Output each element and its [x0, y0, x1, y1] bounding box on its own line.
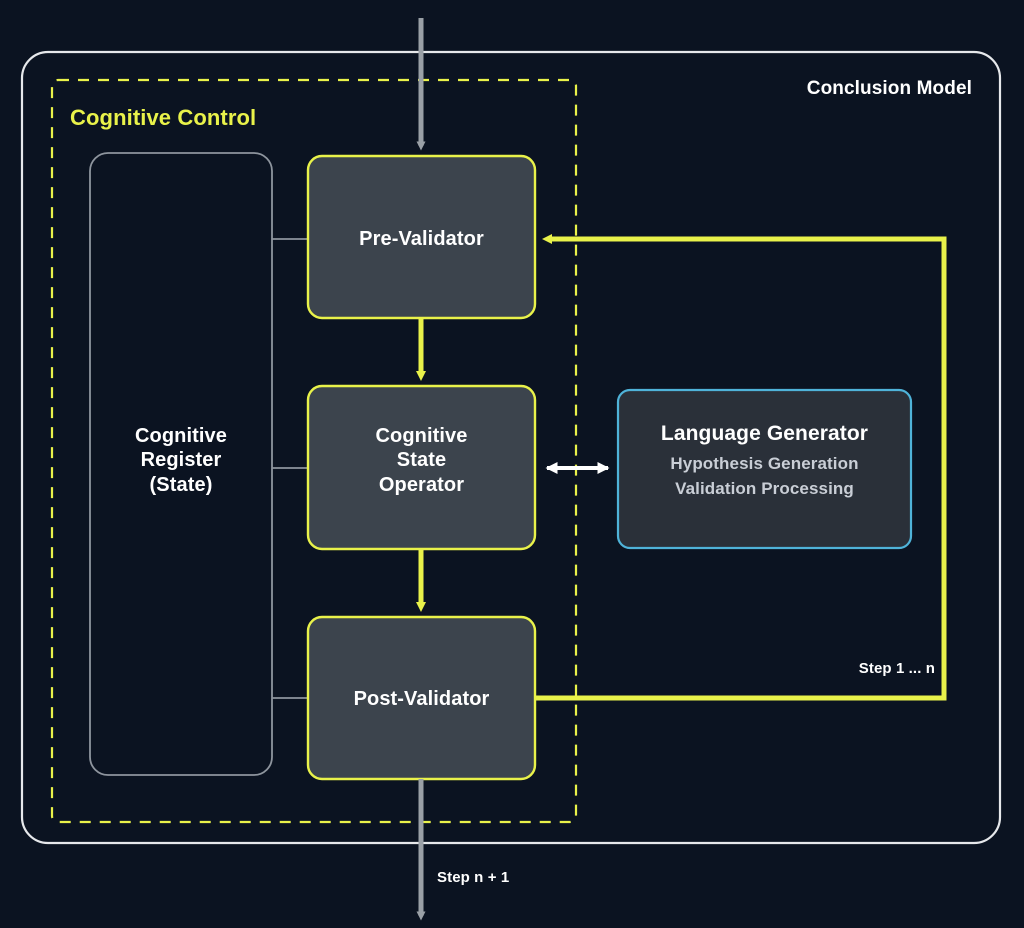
post-validator-label: Post-Validator: [308, 687, 535, 711]
cognitive-register-line-3: (State): [90, 473, 272, 497]
state-operator-line-1: Cognitive: [308, 424, 535, 448]
output-step-label: Step n + 1: [437, 869, 637, 887]
feedback-step-label: Step 1 ... n: [760, 660, 935, 678]
language-generator-sub-2: Validation Processing: [618, 479, 911, 500]
language-generator-sub-1: Hypothesis Generation: [618, 454, 911, 475]
cognitive-register-line-1: Cognitive: [90, 424, 272, 448]
state-operator-line-2: State: [308, 448, 535, 472]
cognitive-control-title: Cognitive Control: [70, 105, 370, 132]
cognitive-state-operator-label: Cognitive State Operator: [308, 424, 535, 497]
conclusion-model-title: Conclusion Model: [700, 77, 972, 100]
language-generator-title: Language Generator: [618, 421, 911, 447]
cognitive-register-label: Cognitive Register (State): [90, 424, 272, 497]
cognitive-register-line-2: Register: [90, 448, 272, 472]
state-operator-line-3: Operator: [308, 473, 535, 497]
diagram-canvas: Conclusion Model Cognitive Control Cogni…: [0, 0, 1024, 928]
pre-validator-label: Pre-Validator: [308, 227, 535, 251]
language-generator-label: Language Generator Hypothesis Generation…: [618, 421, 911, 500]
